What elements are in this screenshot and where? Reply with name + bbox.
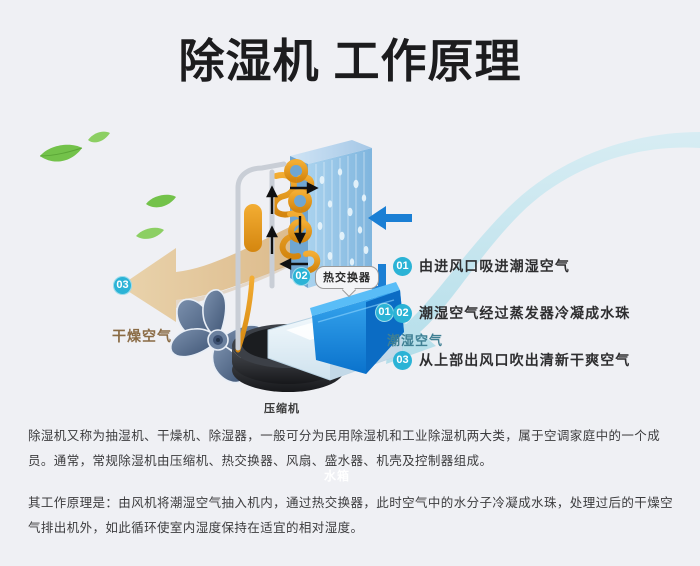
page-title-part-b: 工作原理 [334,35,522,87]
legend-item-03: 03 从上部出风口吹出清新干爽空气 [393,350,683,370]
callout-heat-exchanger: 热交换器 [315,266,379,289]
body-copy: 除湿机又称为抽湿机、干燥机、除湿器，一般可分为民用除湿机和工业除湿机两大类，属于… [28,424,678,541]
diagram-badge-01: 01 [375,303,394,322]
legend-badge-01: 01 [393,257,412,276]
intake-air-arrow [368,206,412,230]
diagram-label-compressor: 压缩机 [264,400,300,416]
body-paragraph-1: 除湿机又称为抽湿机、干燥机、除湿器，一般可分为民用除湿机和工业除湿机两大类，属于… [28,424,678,474]
page-title: 除湿机工作原理 [0,32,700,90]
legend-label-02: 潮湿空气经过蒸发器冷凝成水珠 [419,303,630,323]
legend-item-02: 02 潮湿空气经过蒸发器冷凝成水珠 [393,303,683,323]
legend-list: 01 由进风口吸进潮湿空气 02 潮湿空气经过蒸发器冷凝成水珠 03 从上部出风… [393,256,683,370]
legend-item-01: 01 由进风口吸进潮湿空气 [393,256,683,276]
diagram-badge-03: 03 [113,276,132,295]
legend-label-03: 从上部出风口吹出清新干爽空气 [419,350,630,370]
leaf-icon-group [40,132,176,239]
dehumidifier-infographic: 除湿机工作原理 [0,0,700,566]
legend-badge-02: 02 [393,304,412,323]
page-title-part-a: 除湿机 [179,35,320,87]
legend-badge-03: 03 [393,351,412,370]
diagram-badge-02: 02 [292,267,311,286]
body-paragraph-2: 其工作原理是：由风机将潮湿空气抽入机内，通过热交换器，此时空气中的水分子冷凝成水… [28,491,678,541]
legend-label-01: 由进风口吸进潮湿空气 [419,256,570,276]
